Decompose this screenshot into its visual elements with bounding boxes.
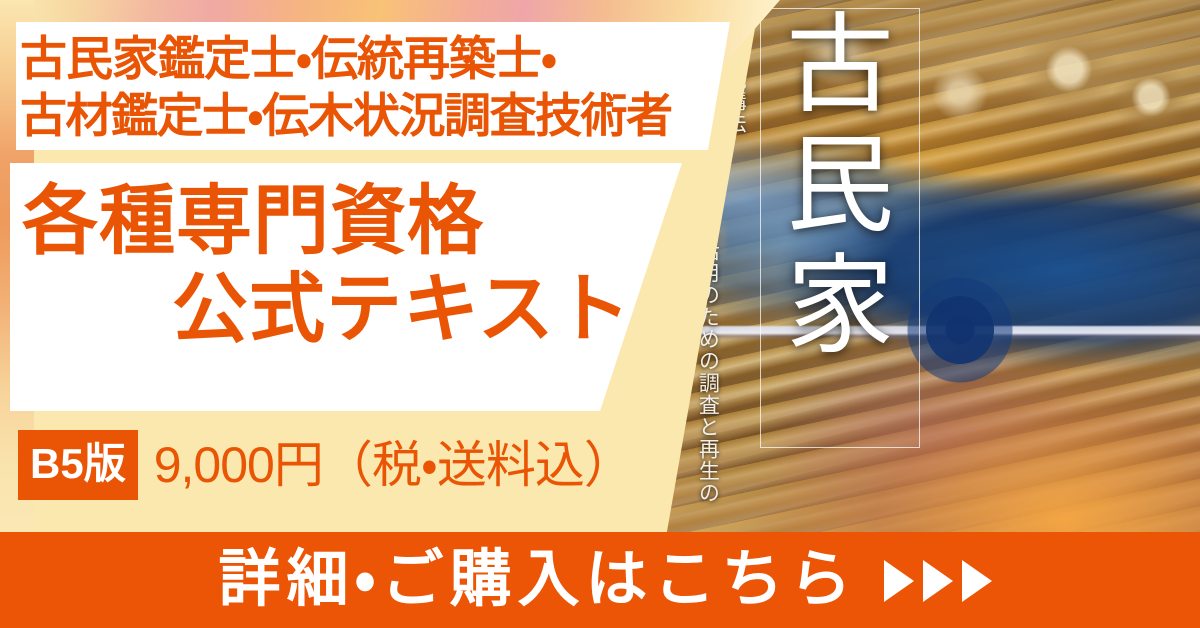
scroll-curl-decoration (1015, 28, 1135, 120)
qualifications-line-2: 古材鑑定士・伝木状況調査技術者 (20, 87, 720, 144)
price-row: B5版 9,000円（税・送料込） (18, 430, 633, 500)
cta-label: 詳細・ご購入はこちら (218, 549, 857, 611)
book-title-char-3: 家 (786, 251, 894, 365)
format-badge: B5版 (18, 430, 138, 500)
play-arrow-icon (923, 560, 953, 602)
price-amount: 9,000円（税・送料込） (154, 440, 633, 490)
play-arrow-icon (884, 560, 914, 602)
book-cover-title: 古 民 家 (778, 10, 902, 440)
cta-arrow-group (884, 560, 992, 602)
play-arrow-icon (962, 560, 992, 602)
book-title-char-1: 古 (786, 10, 894, 124)
scroll-curl-decoration (1103, 58, 1199, 136)
main-headline: 各種専門資格 公式テキスト (0, 178, 690, 354)
main-headline-line-1: 各種専門資格 (0, 178, 690, 266)
book-title-char-2: 民 (786, 130, 894, 244)
qualifications-line-1: 古民家鑑定士・伝統再築士・ (20, 30, 720, 87)
scroll-curl-decoration (925, 62, 995, 124)
cta-button[interactable]: 詳細・ご購入はこちら (0, 532, 1200, 628)
main-headline-line-2: 公式テキスト (0, 266, 690, 354)
promo-banner: 伝統構法 古民家活用のための調査と再生の 古 民 家 古民家鑑定士・伝統再築士・… (0, 0, 1200, 628)
qualifications-headline: 古民家鑑定士・伝統再築士・ 古材鑑定士・伝木状況調査技術者 (20, 30, 720, 145)
